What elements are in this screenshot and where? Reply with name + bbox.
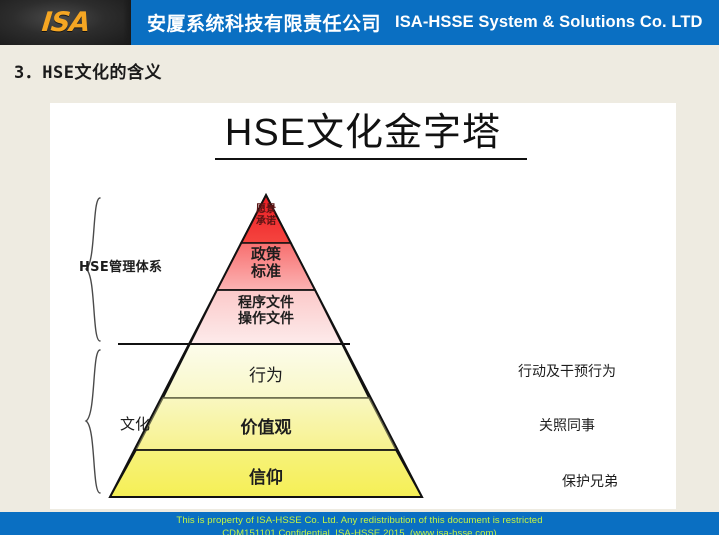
brace-culture: [86, 350, 100, 493]
footer-copyright-line: This is property of ISA-HSSE Co. Ltd. An…: [0, 512, 719, 527]
company-name-en: ISA-HSSE System & Solutions Co. LTD: [395, 13, 703, 32]
logo-panel: ISA: [0, 0, 131, 45]
group-label-hse-system: HSE管理体系: [79, 256, 162, 275]
isa-logo: ISA: [40, 7, 91, 38]
group-label-culture: 文化: [120, 413, 150, 434]
company-name-cn: 安厦系统科技有限责任公司: [147, 9, 381, 36]
header-bar: ISA 安厦系统科技有限责任公司 ISA-HSSE System & Solut…: [0, 0, 719, 45]
pyramid-tier-beliefs: [110, 450, 422, 497]
callout-label-protect: 保护兄弟: [562, 471, 618, 491]
callout-label-care: 关照同事: [539, 415, 595, 435]
slide-canvas: ISA 安厦系统科技有限责任公司 ISA-HSSE System & Solut…: [0, 0, 719, 535]
footer-bar: This is property of ISA-HSSE Co. Ltd. An…: [0, 512, 719, 535]
page-title: 3．HSE文化的含义: [14, 58, 162, 83]
pyramid-figure: HSE文化金字塔: [50, 103, 676, 509]
pyramid-tier-policy: [217, 243, 315, 290]
pyramid-tier-vision: [241, 195, 291, 243]
pyramid-tier-behavior: [163, 344, 369, 398]
header-title-group: 安厦系统科技有限责任公司 ISA-HSSE System & Solutions…: [131, 0, 719, 45]
pyramid-tier-values: [136, 398, 396, 450]
footer-document-id-line: CDM151101 Confidential_ISA-HSSE 2015_(ww…: [0, 527, 719, 535]
callout-label-action: 行动及干预行为: [518, 361, 616, 381]
pyramid-graphic: [50, 103, 676, 509]
